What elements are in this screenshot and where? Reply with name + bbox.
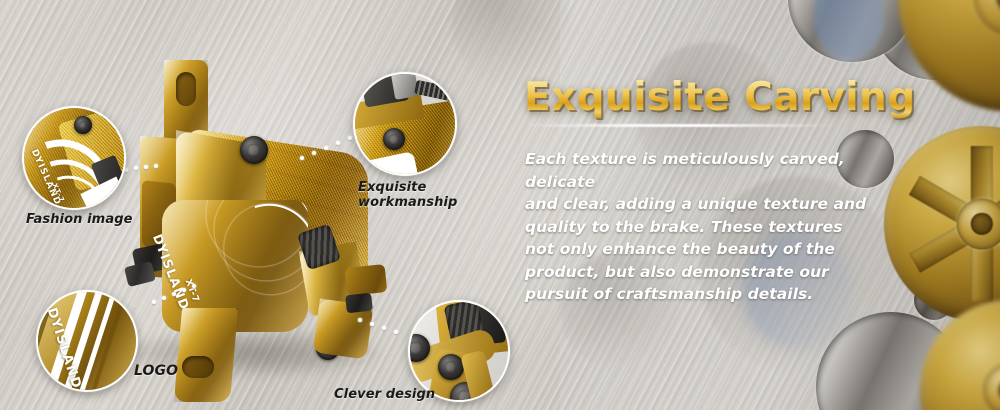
callout-logo-circle[interactable]: DYISLAND [36, 290, 138, 392]
callout-fashion-image-label: Fashion image [26, 212, 136, 227]
callout-logo-label: LOGO [134, 364, 204, 379]
callout-clever-design-label: Clever design [334, 387, 444, 402]
callout-fashion-image-circle[interactable]: DYISLAND XT-7 [22, 106, 126, 210]
caliper-mount-slot [176, 72, 196, 106]
caliper-bottom-tab [174, 308, 238, 402]
caliper-pad-edge [124, 261, 156, 287]
description-text: Each texture is meticulously carved, del… [525, 148, 893, 306]
caliper-pin [345, 293, 373, 314]
callout-exquisite-workmanship-label: Exquisite workmanship [358, 180, 478, 210]
callout-exquisite-workmanship-circle[interactable] [353, 72, 457, 176]
product-banner: DYISLAND XT-7 [0, 0, 1000, 410]
page-title: Exquisite Carving [524, 76, 916, 120]
caliper-bolt-top [240, 136, 268, 164]
caliper-barrel [345, 264, 388, 296]
title-underline [522, 124, 838, 127]
